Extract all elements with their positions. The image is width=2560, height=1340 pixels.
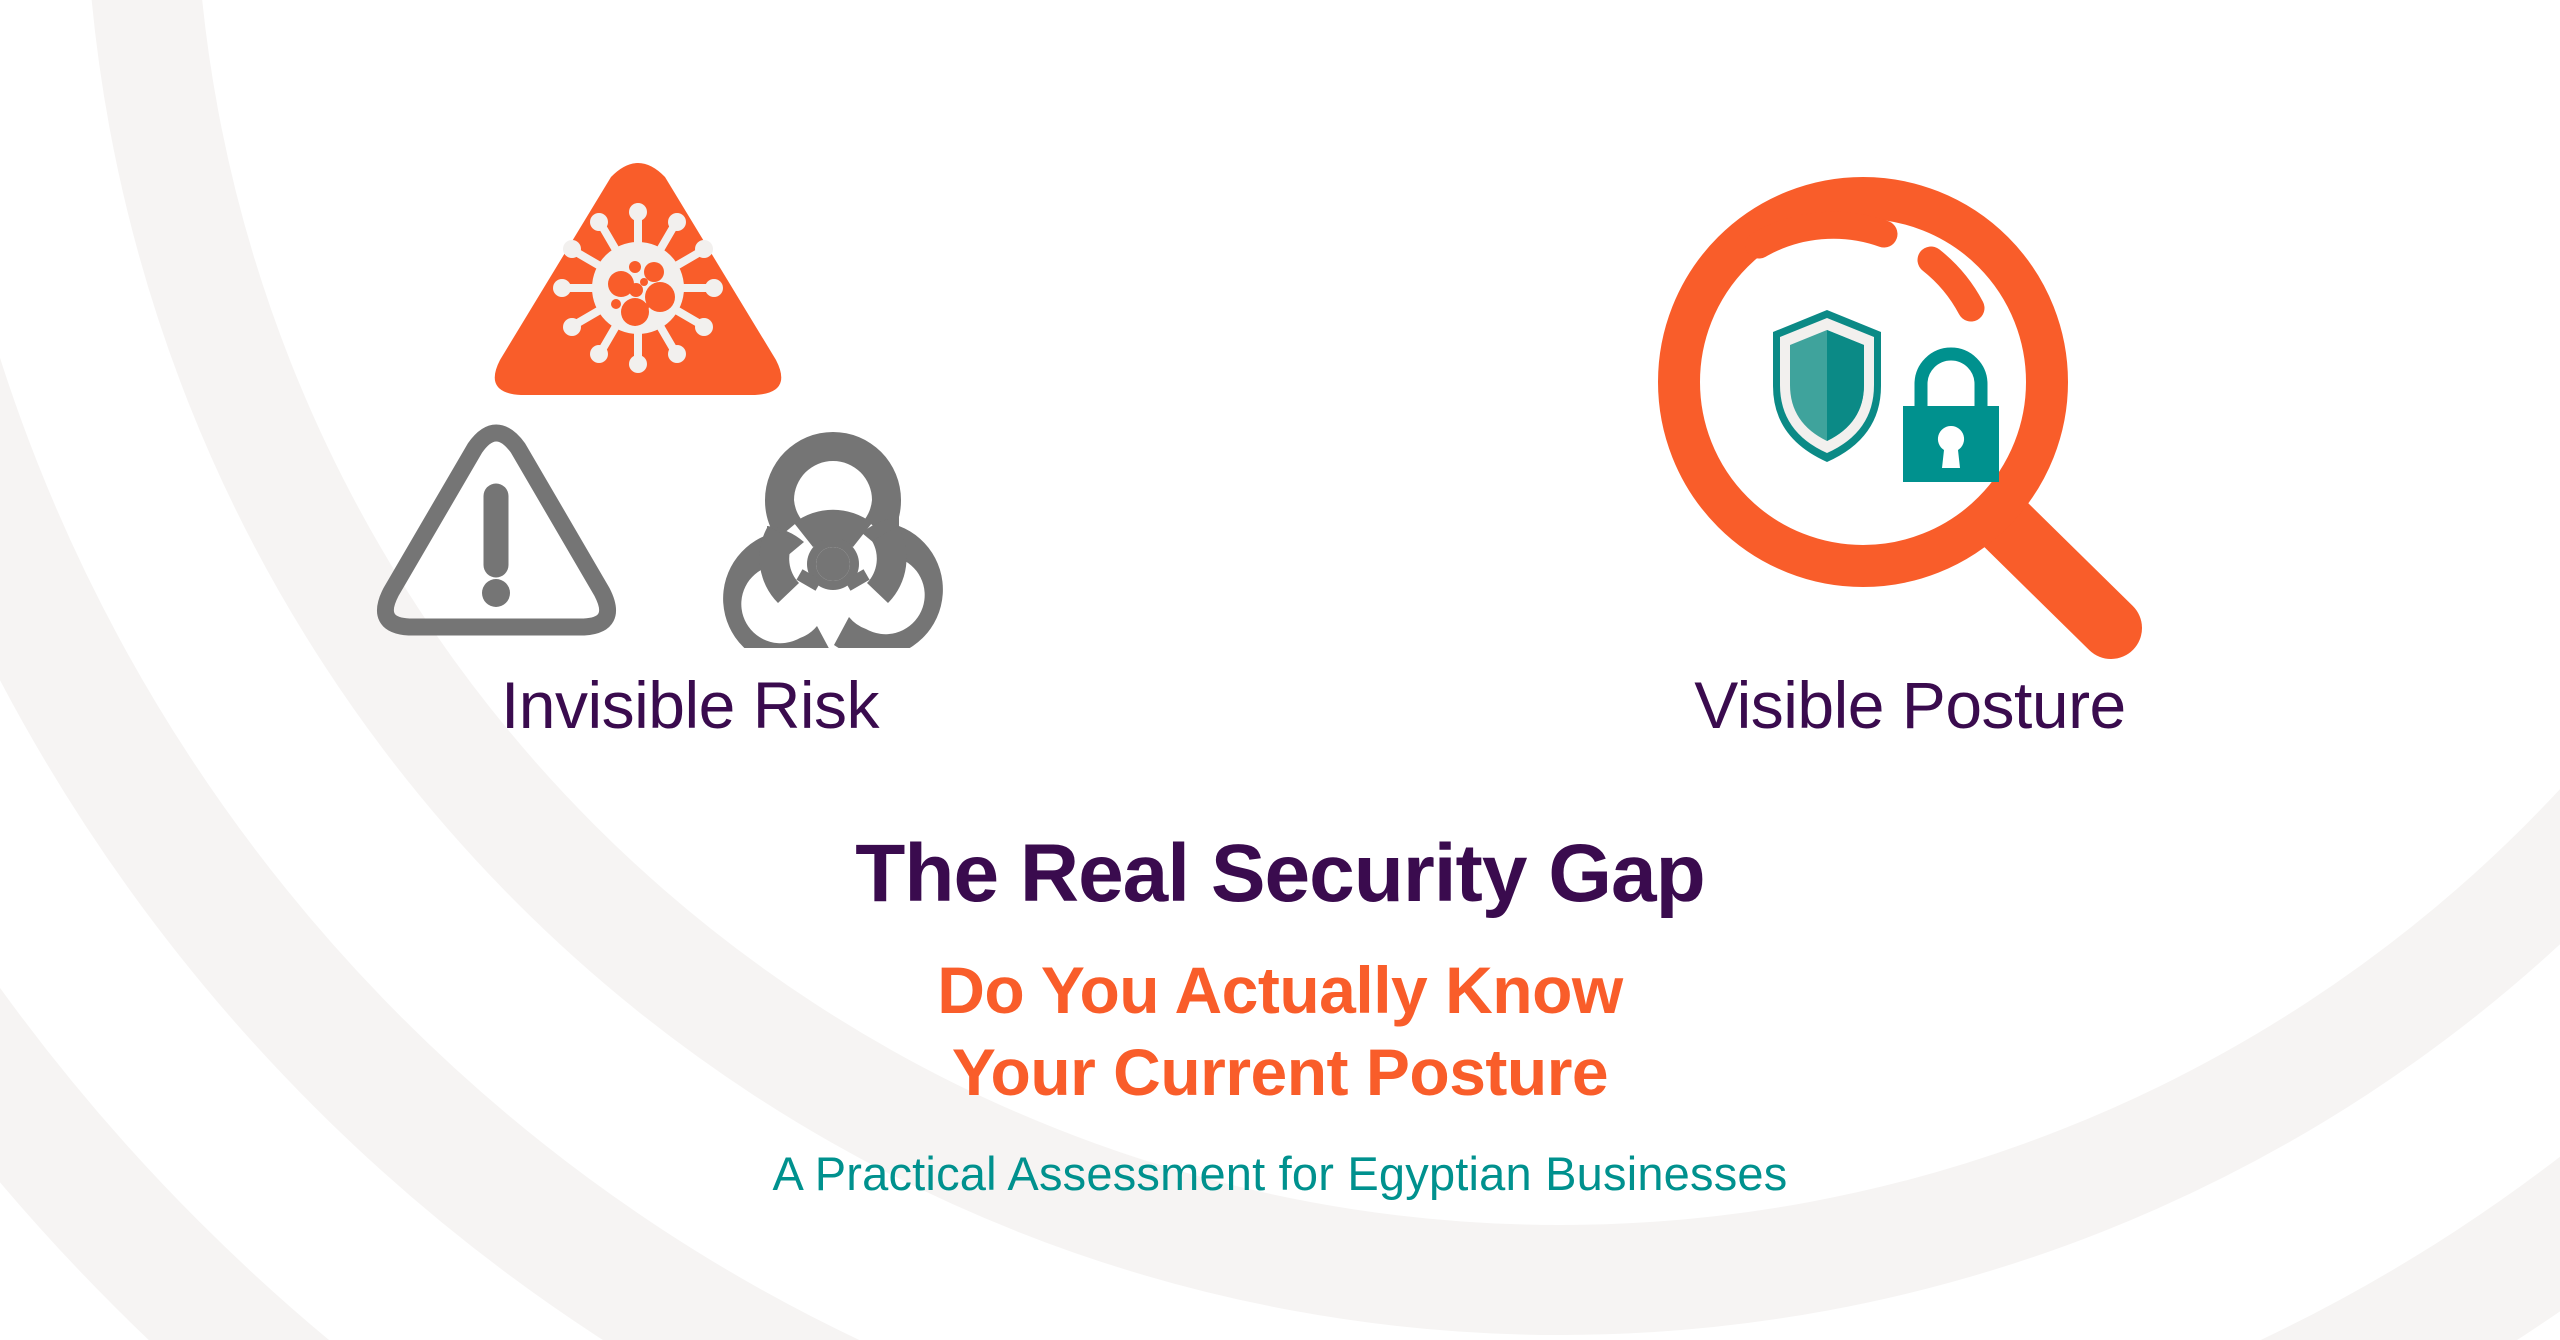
warning-triangle-icon: [374, 420, 619, 650]
panel-visible-posture: Visible Posture: [1500, 0, 2320, 820]
headline: The Real Security Gap: [0, 830, 2560, 919]
slide-canvas: Invisible Risk: [0, 0, 2560, 1340]
panel-label-invisible-risk: Invisible Risk: [280, 672, 1100, 738]
subheadline-line-1: Do You Actually Know: [0, 949, 2560, 1032]
tagline: A Practical Assessment for Egyptian Busi…: [0, 1146, 2560, 1202]
icon-cluster-invisible-risk: [280, 0, 1100, 660]
text-block: The Real Security Gap Do You Actually Kn…: [0, 830, 2560, 1202]
biohazard-icon: [708, 428, 958, 648]
magnifier-security-icon: [1641, 160, 2181, 660]
panel-invisible-risk: Invisible Risk: [280, 0, 1100, 820]
panel-label-visible-posture: Visible Posture: [1500, 672, 2320, 738]
icon-band: Invisible Risk: [0, 0, 2560, 820]
subheadline-line-2: Your Current Posture: [0, 1031, 2560, 1114]
subheadline: Do You Actually Know Your Current Postur…: [0, 949, 2560, 1114]
virus-warning-triangle-icon: [493, 155, 783, 405]
